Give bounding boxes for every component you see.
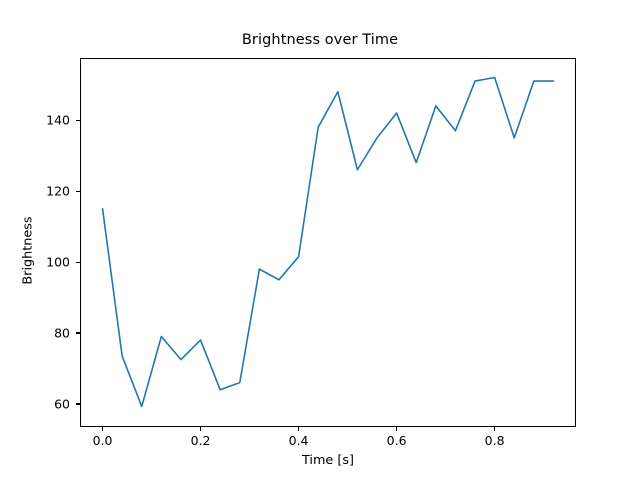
x-tick-label: 0.2: [171, 433, 231, 448]
x-tick-mark: [298, 427, 299, 431]
y-tick-label: 80: [10, 325, 70, 340]
plot-area: [80, 58, 576, 427]
x-tick-mark: [200, 427, 201, 431]
y-tick-label: 140: [10, 113, 70, 128]
x-tick-label: 0.4: [269, 433, 329, 448]
x-tick-label: 0.8: [465, 433, 525, 448]
y-axis-label: Brightness: [21, 191, 36, 311]
y-tick-mark: [76, 120, 80, 121]
figure-canvas: Brightness over Time 6080100120140 0.00.…: [0, 0, 640, 480]
x-tick-label: 0.6: [367, 433, 427, 448]
x-tick-mark: [494, 427, 495, 431]
chart-title: Brightness over Time: [0, 32, 640, 48]
y-tick-mark: [76, 191, 80, 192]
x-tick-label: 0.0: [73, 433, 133, 448]
y-tick-mark: [76, 403, 80, 404]
y-tick-label: 120: [10, 184, 70, 199]
x-axis-label: Time [s]: [80, 453, 576, 468]
y-tick-label: 100: [10, 255, 70, 270]
y-tick-mark: [76, 332, 80, 333]
x-tick-mark: [102, 427, 103, 431]
brightness-line-series: [103, 78, 554, 407]
y-tick-mark: [76, 262, 80, 263]
y-tick-label: 60: [10, 396, 70, 411]
x-tick-mark: [396, 427, 397, 431]
